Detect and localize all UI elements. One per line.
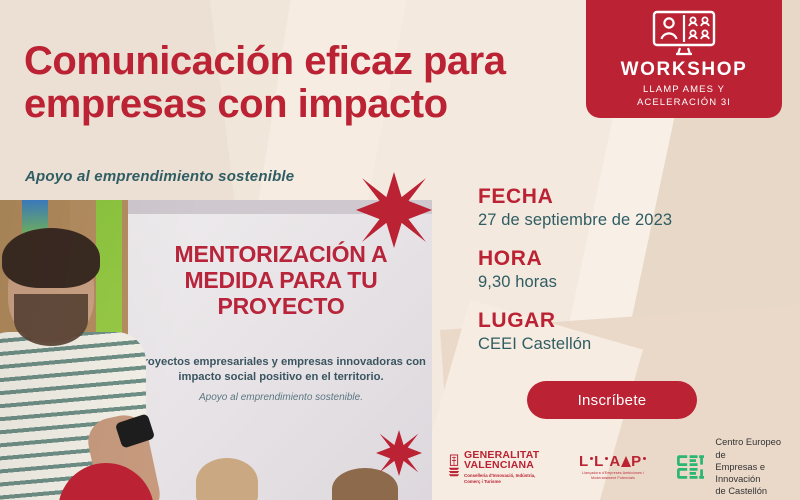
llamp-triangle-icon: [621, 456, 631, 467]
event-poster: Comunicación eficaz para empresas con im…: [0, 0, 800, 500]
photo-vignette: [0, 200, 432, 500]
generalitat-line2: VALENCIANA: [464, 460, 552, 471]
badge-title: WORKSHOP: [621, 60, 748, 79]
badge-subtitle: LLAMP AMES Y ACELERACIÓN 3I: [637, 84, 731, 110]
time-label: HORA: [478, 247, 778, 271]
llamp-dot-1: [590, 457, 593, 460]
llamp-logo: LLAP Llançadora d'Empreses Ambicioses i …: [570, 453, 657, 481]
video-conference-icon: [652, 10, 716, 56]
llamp-dot-3: [643, 457, 646, 460]
generalitat-crest-icon: [448, 451, 460, 483]
llamp-tagline: Llançadora d'Empreses Ambicioses i Moder…: [570, 471, 657, 481]
date-value: 27 de septiembre de 2023: [478, 211, 778, 230]
workshop-badge: WORKSHOP LLAMP AMES Y ACELERACIÓN 3I: [586, 0, 782, 118]
ceei-line2: Empresas e Innovación: [715, 461, 793, 486]
logo-strip: GENERALITAT VALENCIANA Conselleria d'Inn…: [448, 443, 793, 491]
ceei-mark-icon: [676, 451, 708, 483]
event-photo: MENTORIZACIÓN A MEDIDA PARA TU PROYECTO …: [0, 200, 432, 500]
ceei-text: Centro Europeo de Empresas e Innovación …: [715, 436, 793, 497]
badge-subtitle-line1: LLAMP AMES Y: [637, 84, 731, 97]
llamp-dot-2: [605, 457, 608, 460]
place-value: CEEI Castellón: [478, 335, 778, 354]
page-title: Comunicación eficaz para empresas con im…: [24, 40, 564, 126]
time-value: 9,30 horas: [478, 273, 778, 292]
ceei-logo: Centro Europeo de Empresas e Innovación …: [676, 436, 793, 497]
llamp-wordmark: LLAP: [570, 453, 657, 470]
generalitat-valenciana-logo: GENERALITAT VALENCIANA Conselleria d'Inn…: [448, 450, 552, 485]
event-details: FECHA 27 de septiembre de 2023 HORA 9,30…: [478, 185, 778, 354]
generalitat-line3: Conselleria d'Innovació, Indústria, Come…: [464, 473, 552, 485]
generalitat-text: GENERALITAT VALENCIANA Conselleria d'Inn…: [464, 450, 552, 485]
starburst-small-icon: [376, 430, 422, 476]
register-button[interactable]: Inscríbete: [527, 381, 697, 419]
page-subtitle: Apoyo al emprendimiento sostenible: [25, 168, 294, 185]
place-label: LUGAR: [478, 309, 778, 333]
badge-subtitle-line2: ACELERACIÓN 3I: [637, 97, 731, 110]
date-label: FECHA: [478, 185, 778, 209]
starburst-large-icon: [356, 172, 432, 248]
ceei-line1: Centro Europeo de: [715, 436, 793, 461]
ceei-line3: de Castellón: [715, 485, 793, 497]
